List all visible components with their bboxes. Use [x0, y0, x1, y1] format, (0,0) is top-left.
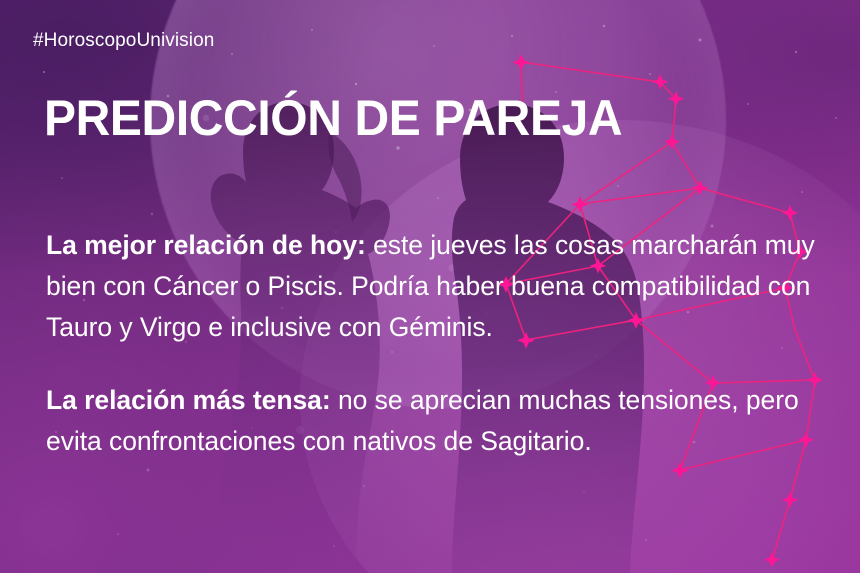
hashtag-label: #HoroscopoUnivision	[33, 30, 214, 52]
paragraph-lead-tense: La relación más tensa:	[46, 385, 331, 415]
page-title: PREDICCIÓN DE PAREJA	[44, 92, 622, 144]
card-content: #HoroscopoUnivision PREDICCIÓN DE PAREJA…	[0, 0, 860, 573]
paragraph-lead-best: La mejor relación de hoy:	[46, 230, 366, 260]
paragraph-best-relationship: La mejor relación de hoy: este jueves la…	[46, 225, 836, 348]
body-text: La mejor relación de hoy: este jueves la…	[46, 198, 836, 488]
paragraph-tense-relationship: La relación más tensa: no se aprecian mu…	[46, 380, 836, 462]
horoscope-card: #HoroscopoUnivision PREDICCIÓN DE PAREJA…	[0, 0, 860, 573]
